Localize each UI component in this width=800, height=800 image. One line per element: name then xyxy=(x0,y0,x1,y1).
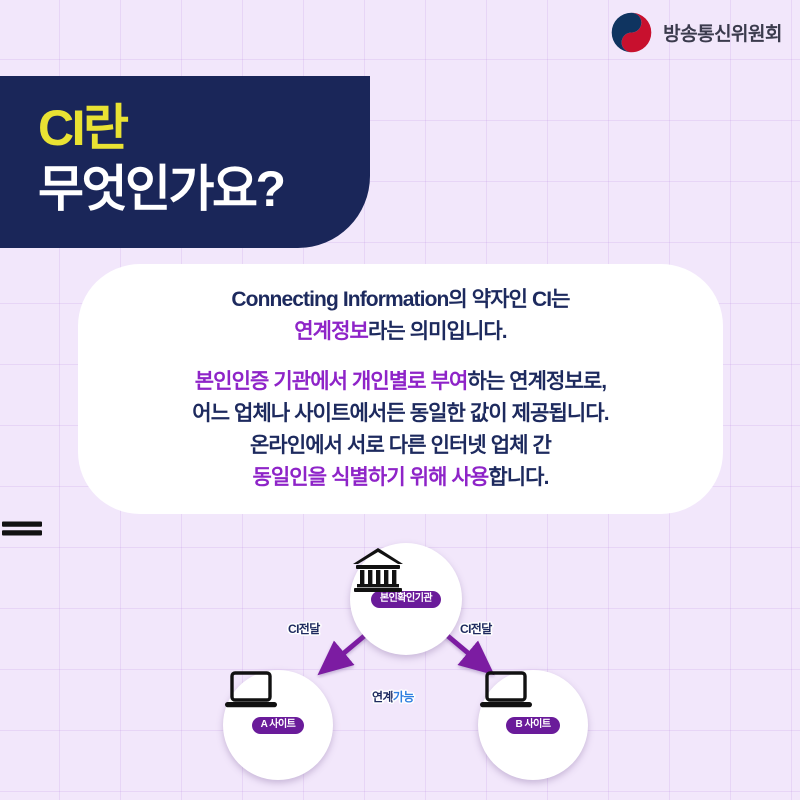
equals-sign-icon xyxy=(0,520,44,537)
organization-name: 방송통신위원회 xyxy=(663,19,782,46)
definition-text-line-1: Connecting Information의 약자인 CI는 xyxy=(231,284,569,316)
laptop-icon xyxy=(223,670,279,712)
definition-text-line-1-seg-1: Connecting Information의 약자인 CI는 xyxy=(231,288,569,311)
edge-label-link: 연계가능 xyxy=(372,688,414,705)
paragraph-description: 본인인증 기관에서 개인별로 부여하는 연계정보로,어느 업체나 사이트에서든 … xyxy=(192,366,608,494)
bank-building-icon xyxy=(350,545,406,593)
diagram-node-site-b: B 사이트 xyxy=(478,670,588,780)
taeguk-logo-icon xyxy=(609,10,654,55)
page-title-line-2: 무엇인가요? xyxy=(38,159,284,220)
description-text-line-3: 온라인에서 서로 다른 인터넷 업체 간 xyxy=(192,430,608,462)
description-text-line-2: 어느 업체나 사이트에서든 동일한 값이 제공됩니다. xyxy=(192,398,608,430)
organization-logo: 방송통신위원회 xyxy=(609,10,782,55)
diagram-node-site-a: A 사이트 xyxy=(223,670,333,780)
definition-text-line-2-seg-2: 라는 의미입니다. xyxy=(368,320,507,343)
description-text-line-4-seg-1: 동일인을 식별하기 위해 사용 xyxy=(252,466,488,489)
description-text-line-2-seg-1: 어느 업체나 사이트에서든 동일한 값이 제공됩니다. xyxy=(192,402,608,425)
node-badge-site-b: B 사이트 xyxy=(506,717,559,734)
node-badge-institution: 본인확인기관 xyxy=(371,591,441,608)
ci-flow-diagram: 본인확인기관 A 사이트 B 사이트 CI전달 CI전달 연계가능 xyxy=(0,520,800,800)
laptop-icon xyxy=(478,670,534,712)
definition-text-line-2: 연계정보라는 의미입니다. xyxy=(231,316,569,348)
edge-label-link-part-a: 연계 xyxy=(372,690,393,704)
paragraph-definition: Connecting Information의 약자인 CI는연계정보라는 의미… xyxy=(231,284,569,348)
description-text-line-1: 본인인증 기관에서 개인별로 부여하는 연계정보로, xyxy=(192,366,608,398)
title-text-group: CI란 무엇인가요? xyxy=(38,98,284,220)
content-card: Connecting Information의 약자인 CI는연계정보라는 의미… xyxy=(78,264,723,514)
description-text-line-4-seg-2: 합니다. xyxy=(488,466,548,489)
description-text-line-1-seg-1: 본인인증 기관에서 개인별로 부여 xyxy=(195,370,468,393)
title-banner: CI란 무엇인가요? xyxy=(0,76,370,248)
definition-text-line-2-seg-1: 연계정보 xyxy=(294,320,368,343)
description-text-line-4: 동일인을 식별하기 위해 사용합니다. xyxy=(192,462,608,494)
edge-label-ci-left: CI전달 xyxy=(288,620,320,637)
node-badge-site-a: A 사이트 xyxy=(252,717,305,734)
edge-label-link-part-b: 가능 xyxy=(393,690,414,704)
edge-label-ci-right: CI전달 xyxy=(460,620,492,637)
description-text-line-1-seg-2: 하는 연계정보로, xyxy=(467,370,606,393)
diagram-node-institution: 본인확인기관 xyxy=(350,543,462,655)
infographic-page: 방송통신위원회 CI란 무엇인가요? Connecting Informatio… xyxy=(0,0,800,800)
page-title-line-1: CI란 xyxy=(38,98,284,159)
arrow-institution-to-site-a xyxy=(332,632,369,663)
description-text-line-3-seg-1: 온라인에서 서로 다른 인터넷 업체 간 xyxy=(250,434,551,457)
